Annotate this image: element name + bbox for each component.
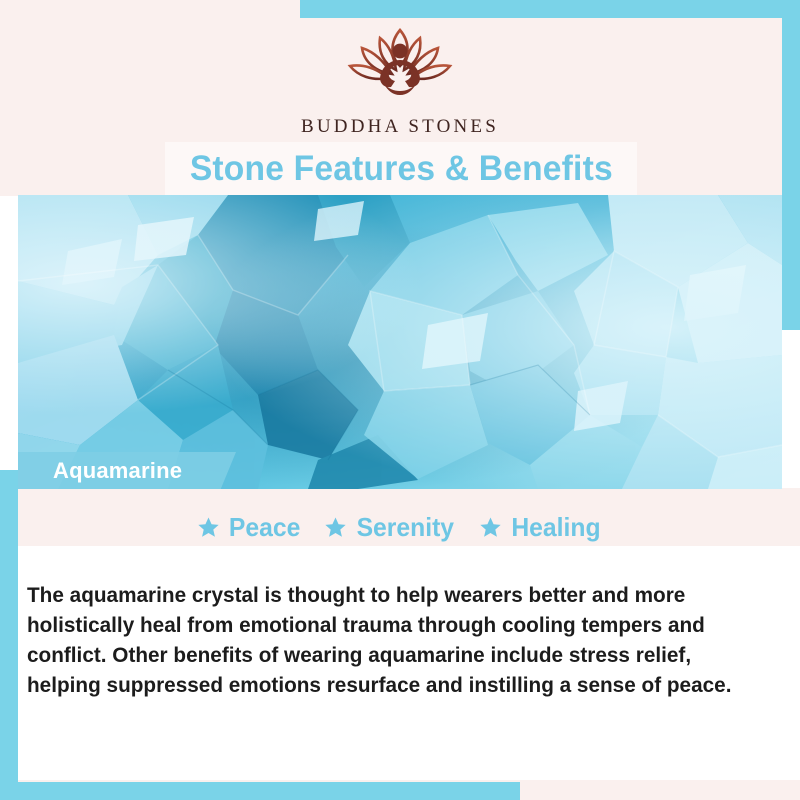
page-title: Stone Features & Benefits: [189, 149, 612, 189]
star-icon: [479, 516, 502, 539]
keyword-label: Serenity: [357, 512, 454, 543]
star-icon: [324, 516, 347, 539]
poster-canvas: BUDDHA STONES Stone Features & Benefits: [0, 0, 800, 800]
aquamarine-crystal-photo: [18, 195, 782, 489]
star-icon: [197, 516, 220, 539]
keyword-list: Peace Serenity Healing: [0, 512, 800, 543]
crystal-photo-artwork: [18, 195, 782, 489]
keyword-item-peace: Peace: [197, 512, 302, 543]
frame-accent-bottom-left: [0, 782, 520, 800]
keyword-label: Peace: [229, 512, 300, 543]
stone-description: The aquamarine crystal is thought to hel…: [27, 580, 745, 700]
keyword-label: Healing: [511, 512, 600, 543]
stone-name-ribbon: Aquamarine: [18, 452, 236, 489]
keyword-item-serenity: Serenity: [324, 512, 457, 543]
title-banner: Stone Features & Benefits: [165, 142, 637, 195]
frame-accent-top-right: [300, 0, 800, 18]
brand-logo: BUDDHA STONES: [0, 18, 800, 138]
lotus-meditation-figure-icon: [336, 18, 464, 110]
stone-name-label: Aquamarine: [53, 458, 182, 484]
brand-wordmark: BUDDHA STONES: [0, 116, 800, 138]
keyword-item-healing: Healing: [479, 512, 603, 543]
